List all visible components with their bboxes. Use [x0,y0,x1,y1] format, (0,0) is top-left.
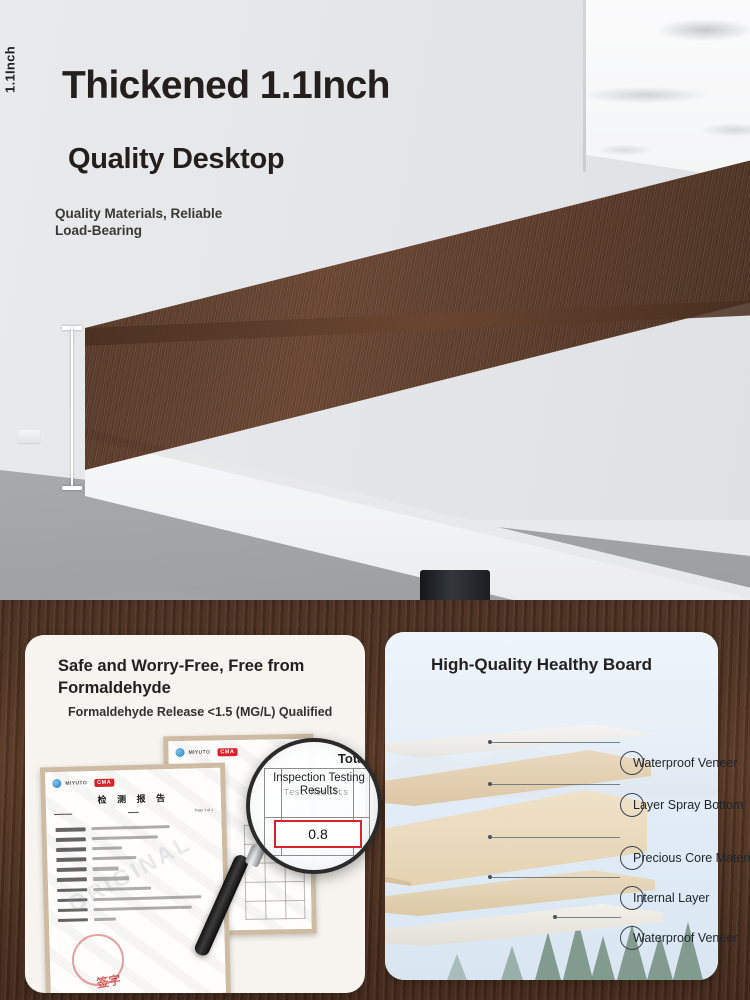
magnifier-column-header: Total [338,751,368,766]
certificate-meta-left: ▬▬▬▬▬ [54,812,72,816]
caliper-bottom-cap [62,486,82,490]
layer-callout-label: Internal Layer [633,891,709,905]
miyuto-logo-icon [52,779,61,788]
layer-callout-4: Internal Layer [620,886,709,910]
leader-line-3 [492,837,620,838]
layer-callout-label: Precious Core Material [633,851,750,865]
magnifier-lens: Total Test Results Inspection Testing Re… [246,738,382,874]
layer-callout-3: Precious Core Material [620,846,750,870]
certificate-front-brand: MIYUTO [65,780,87,787]
certificate-page-number: Page 1 of 1 [195,808,213,812]
thickness-caliper [62,322,82,494]
certificate-front: MIYUTO CMA 检 测 报 告 ▬▬▬▬▬ ▬▬▬ Page 1 of 1 [40,763,231,993]
cma-badge-back: CMA [217,748,237,756]
leader-line-2 [492,784,620,785]
thickness-label: 1.1Inch [3,42,18,98]
page-headline: Thickened 1.1Inch [62,64,390,108]
caliper-bar [71,328,73,488]
marble-wall-panel [585,0,750,180]
product-banner: 1.1Inch Thickened 1.1Inch Quality Deskto… [0,0,750,1000]
wall-outlet [18,430,40,443]
layer-callout-label: Waterproof Veneer [633,931,737,945]
cma-badge-front: CMA [94,778,114,787]
page-subheadline: Quality Desktop [68,143,284,176]
page-description: Quality Materials, Reliable Load-Bearing [55,205,222,239]
page-description-line1: Quality Materials, Reliable [55,205,222,222]
page-description-line2: Load-Bearing [55,222,222,239]
layer-callout-5: Waterproof Veneer [620,926,737,950]
certificate-front-page: MIYUTO CMA 检 测 报 告 ▬▬▬▬▬ ▬▬▬ Page 1 of 1 [45,768,226,993]
layer-callout-label: Layer Spray Bottom [633,798,743,812]
leader-line-4 [492,877,620,878]
magnifier-row-label: Inspection Testing Results [264,772,374,798]
leader-line-5 [557,917,621,918]
certificate-back-brand: MIYUTO [188,749,210,755]
layer-callout-1: Waterproof Veneer [620,751,737,775]
wall-panel-edge [583,0,586,172]
leader-line-1 [492,742,620,743]
card-formaldehyde-title: Safe and Worry-Free, Free from Formaldeh… [58,655,348,699]
layer-callout-label: Waterproof Veneer [633,756,737,770]
miyuto-logo-icon [175,748,184,757]
layer-callout-2: Layer Spray Bottom [620,793,743,817]
magnifier-value: 0.8 [274,820,362,848]
card-formaldehyde-subtitle: Formaldehyde Release <1.5 (MG/L) Qualifi… [68,705,353,719]
certificate-meta-mid: ▬▬▬ [128,810,139,814]
card-healthy-board-title: High-Quality Healthy Board [431,652,681,677]
certificate-row [58,915,215,923]
